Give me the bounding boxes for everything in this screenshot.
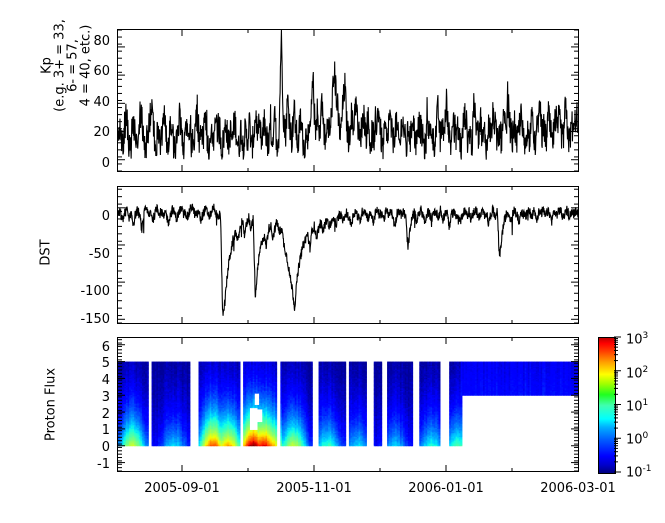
colorbar-ticks bbox=[614, 336, 626, 474]
colorbar-label-1e3-exp: 3 bbox=[643, 331, 649, 341]
dst-ytick--100: -100 bbox=[62, 284, 110, 299]
pf-ytick-0: 0 bbox=[70, 440, 110, 455]
xtick-label-1: 2005-11-01 bbox=[276, 481, 352, 496]
figure-canvas: Kp (e.g. 3+ = 33, 6- = 57, 4 = 40, etc.)… bbox=[0, 0, 665, 523]
colorbar-label-1e0-exp: 0 bbox=[643, 431, 649, 441]
pf-ytick-6: 6 bbox=[70, 340, 110, 355]
xtick-label-0: 2005-09-01 bbox=[144, 481, 220, 496]
pf-ytick-3: 3 bbox=[70, 390, 110, 405]
pf-ytick--1: -1 bbox=[70, 457, 110, 472]
pf-ytick-5: 5 bbox=[70, 356, 110, 371]
xtick-label-2: 2006-01-01 bbox=[408, 481, 484, 496]
proton-flux-heatmap-svg bbox=[118, 338, 578, 471]
kp-series-svg bbox=[118, 30, 578, 171]
kp-ytick-40: 40 bbox=[68, 95, 110, 110]
xtick-label-3: 2006-03-01 bbox=[540, 481, 616, 496]
colorbar-label-1e2-mantissa: 10 bbox=[626, 366, 643, 381]
dst-ytick--150: -150 bbox=[62, 312, 110, 327]
colorbar-label-1e1: 101 bbox=[626, 398, 648, 414]
colorbar-label-1e0: 100 bbox=[626, 431, 648, 447]
colorbar-label-1e2: 102 bbox=[626, 365, 648, 381]
dst-axis-title: DST bbox=[39, 213, 54, 293]
colorbar-label-1e1-mantissa: 10 bbox=[626, 399, 643, 414]
pf-ytick-2: 2 bbox=[70, 407, 110, 422]
colorbar-label-1e2-exp: 2 bbox=[643, 365, 649, 375]
colorbar-label-1e-1: 10-1 bbox=[626, 464, 652, 480]
dst-ytick--50: -50 bbox=[62, 247, 110, 262]
colorbar-label-1e1-exp: 1 bbox=[643, 398, 649, 408]
dst-ytick-0: 0 bbox=[62, 209, 110, 224]
pf-ytick-4: 4 bbox=[70, 373, 110, 388]
colorbar-label-1e-1-exp: -1 bbox=[643, 464, 652, 474]
kp-ytick-20: 20 bbox=[68, 125, 110, 140]
colorbar-label-1e0-mantissa: 10 bbox=[626, 432, 643, 447]
kp-ytick-60: 60 bbox=[68, 64, 110, 79]
proton-flux-axis-title: Proton Flux bbox=[44, 350, 59, 460]
dst-series-svg bbox=[118, 187, 578, 323]
colorbar-gradient bbox=[599, 338, 615, 473]
colorbar-label-1e3-mantissa: 10 bbox=[626, 332, 643, 347]
colorbar-label-1e-1-mantissa: 10 bbox=[626, 465, 643, 480]
kp-ytick-0: 0 bbox=[68, 156, 110, 171]
kp-ytick-80: 80 bbox=[68, 34, 110, 49]
proton-flux-plot-area bbox=[118, 338, 578, 471]
dst-plot-area bbox=[118, 187, 578, 323]
kp-plot-area bbox=[118, 30, 578, 171]
colorbar-label-1e3: 103 bbox=[626, 331, 648, 347]
pf-ytick-1: 1 bbox=[70, 423, 110, 438]
